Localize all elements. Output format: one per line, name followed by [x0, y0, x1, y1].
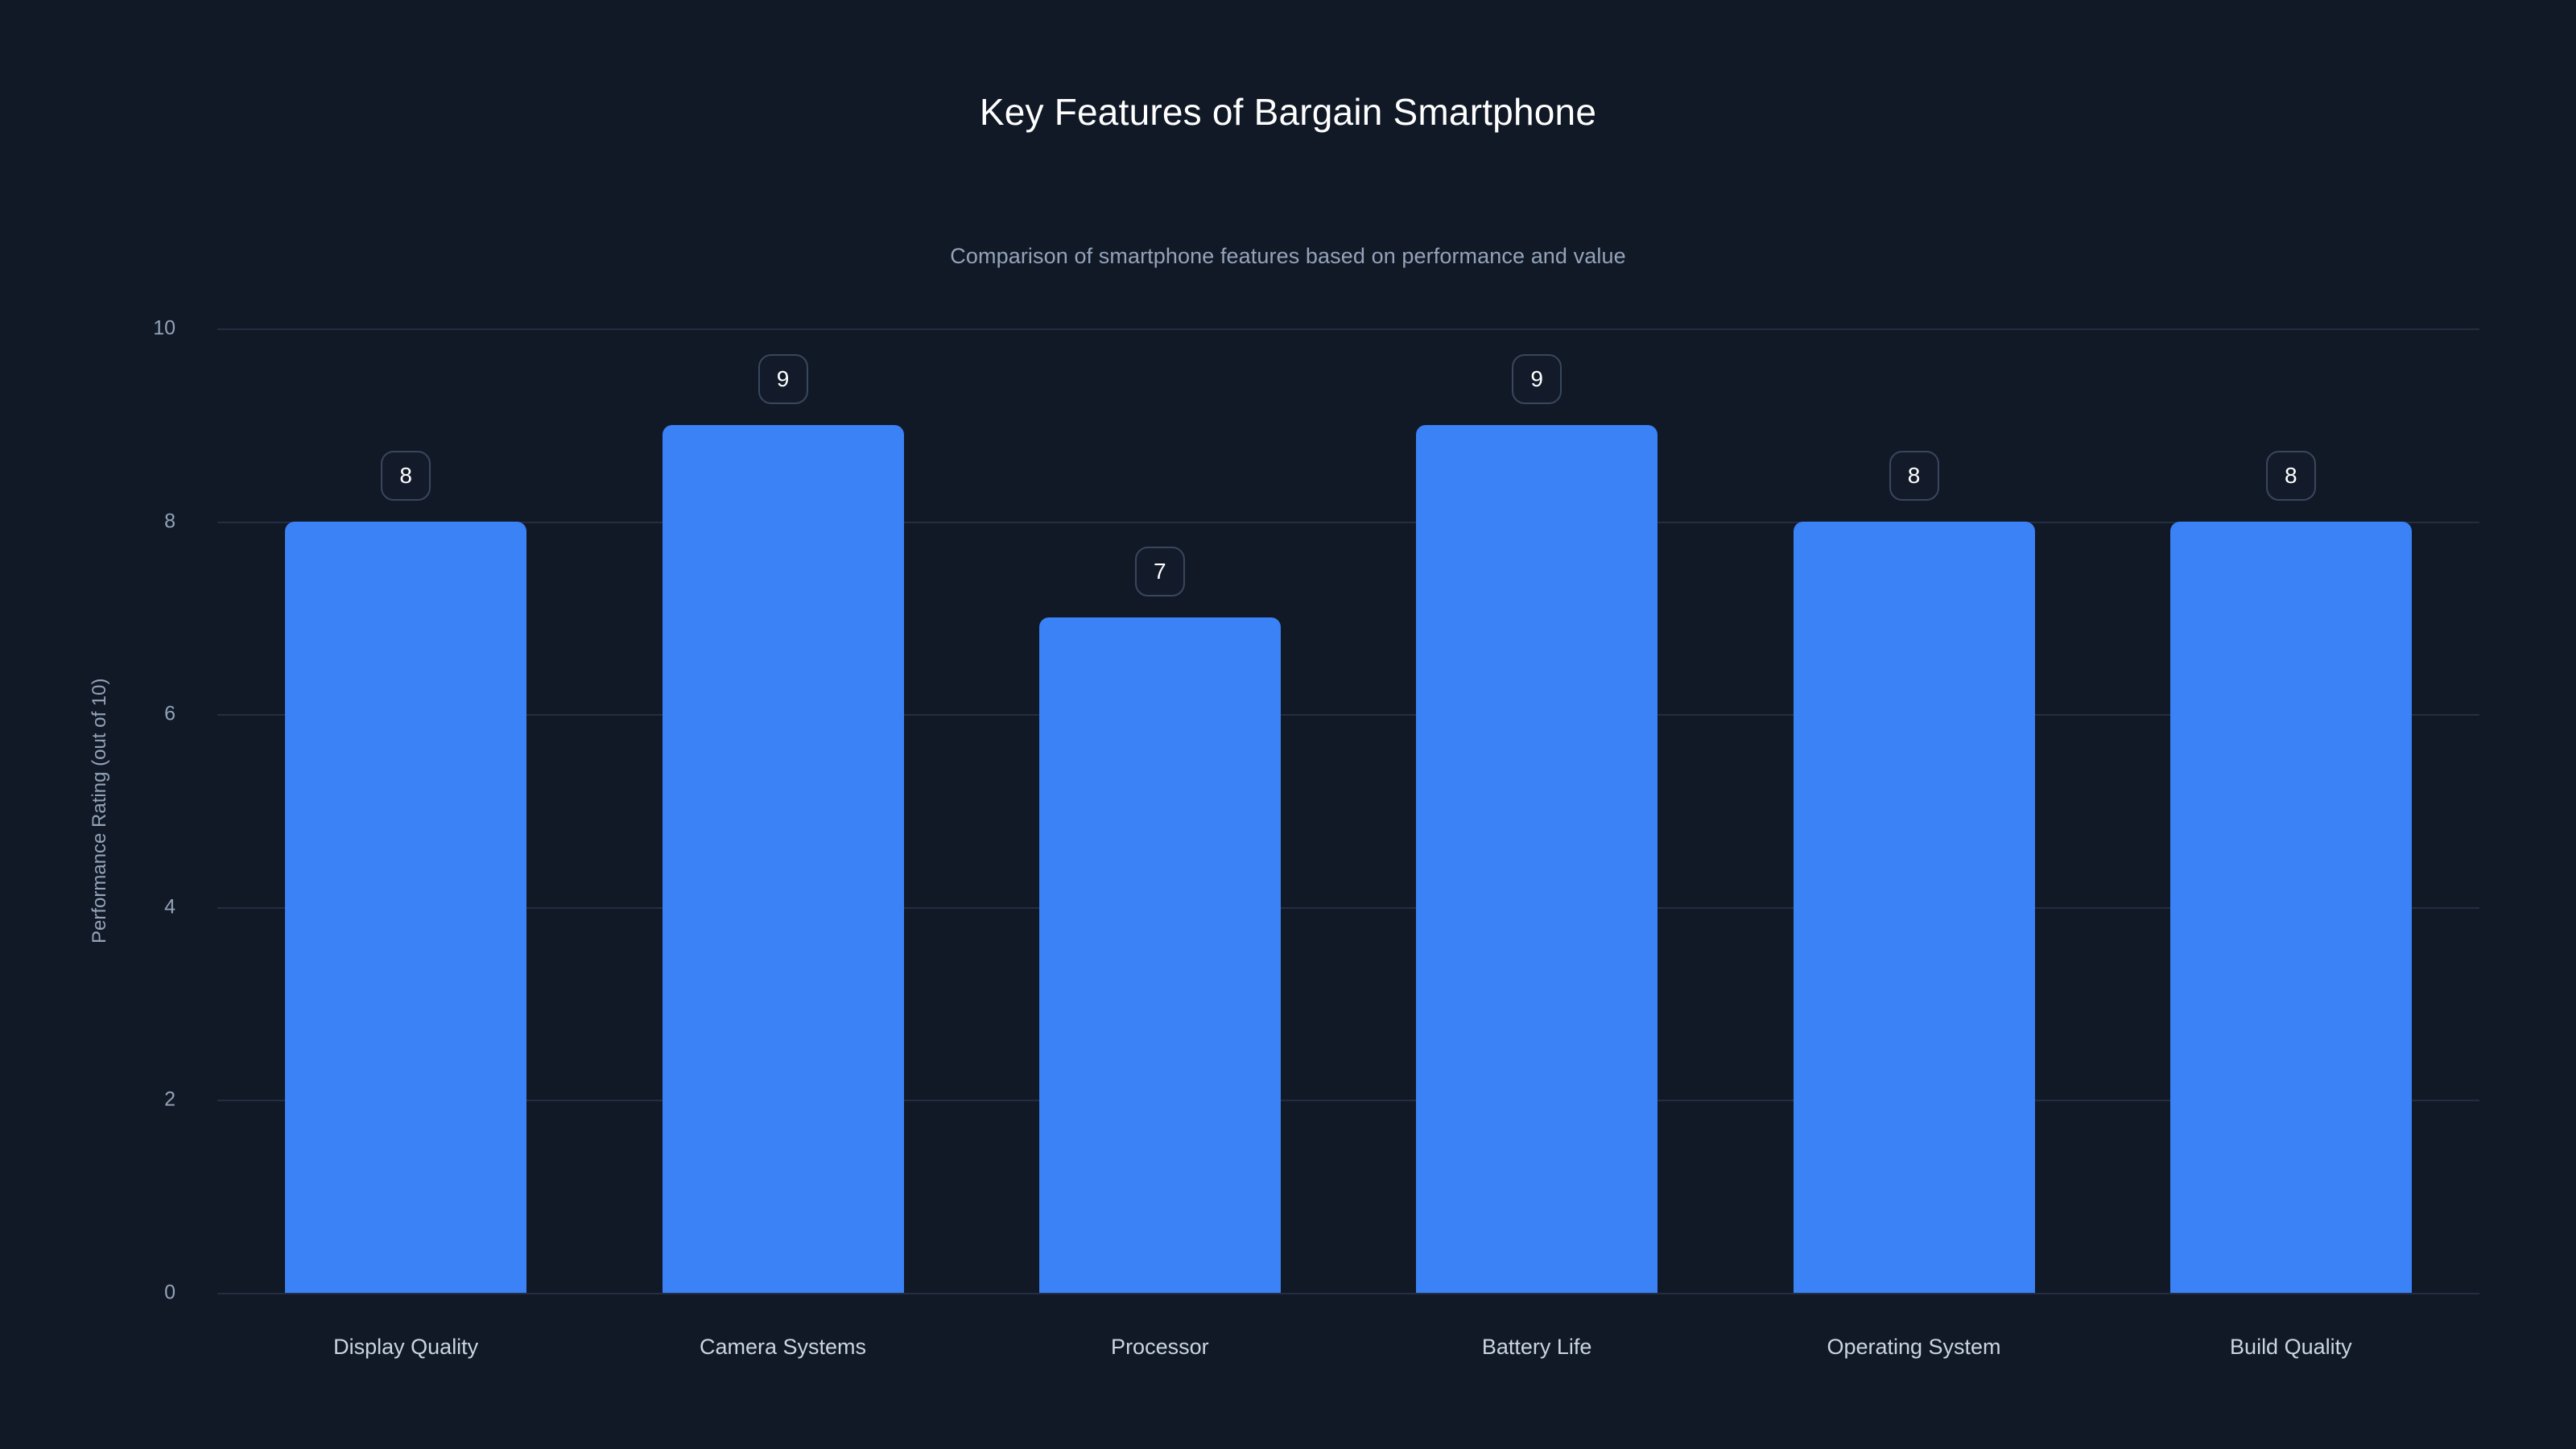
bar[interactable] — [285, 522, 526, 1293]
y-axis-tick-label: 8 — [14, 510, 175, 533]
bar-series: 8Display Quality9Camera Systems7Processo… — [217, 328, 2479, 1293]
bar-group[interactable]: 8Operating System — [1794, 328, 2035, 1293]
bar-value-badge: 8 — [2266, 451, 2316, 501]
bar-group[interactable]: 8Build Quality — [2170, 328, 2412, 1293]
bar-group[interactable]: 9Camera Systems — [663, 328, 904, 1293]
bar-value-badge: 9 — [1512, 354, 1562, 404]
bar-group[interactable]: 9Battery Life — [1416, 328, 1657, 1293]
bar-group[interactable]: 8Display Quality — [285, 328, 526, 1293]
y-axis-tick-label: 0 — [14, 1282, 175, 1305]
x-axis-tick-label: Display Quality — [333, 1335, 478, 1360]
y-axis-tick-label: 4 — [14, 895, 175, 919]
y-axis-tick-label: 10 — [14, 317, 175, 341]
chart-subtitle: Comparison of smartphone features based … — [0, 244, 2576, 269]
bar[interactable] — [1039, 617, 1281, 1293]
bar-value-badge: 8 — [1889, 451, 1939, 501]
bar-value-badge: 7 — [1135, 547, 1185, 597]
x-axis-tick-label: Operating System — [1827, 1335, 2000, 1360]
bar[interactable] — [1416, 425, 1657, 1293]
bar-value-badge: 8 — [381, 451, 431, 501]
x-axis-tick-label: Battery Life — [1482, 1335, 1592, 1360]
bar[interactable] — [2170, 522, 2412, 1293]
chart-title: Key Features of Bargain Smartphone — [0, 90, 2576, 134]
y-axis: Performance Rating (out of 10) 0246810 — [0, 328, 201, 1293]
bar-group[interactable]: 7Processor — [1039, 328, 1281, 1293]
bar[interactable] — [1794, 522, 2035, 1293]
x-axis-tick-label: Build Quality — [2230, 1335, 2352, 1360]
plot-area: 8Display Quality9Camera Systems7Processo… — [217, 328, 2479, 1293]
x-axis-tick-label: Processor — [1111, 1335, 1209, 1360]
x-axis-tick-label: Camera Systems — [700, 1335, 866, 1360]
bar[interactable] — [663, 425, 904, 1293]
bar-chart: Key Features of Bargain Smartphone Compa… — [0, 0, 2576, 1449]
y-axis-tick-label: 6 — [14, 703, 175, 726]
y-axis-tick-label: 2 — [14, 1088, 175, 1112]
bar-value-badge: 9 — [758, 354, 808, 404]
gridline-0 — [217, 1293, 2479, 1294]
